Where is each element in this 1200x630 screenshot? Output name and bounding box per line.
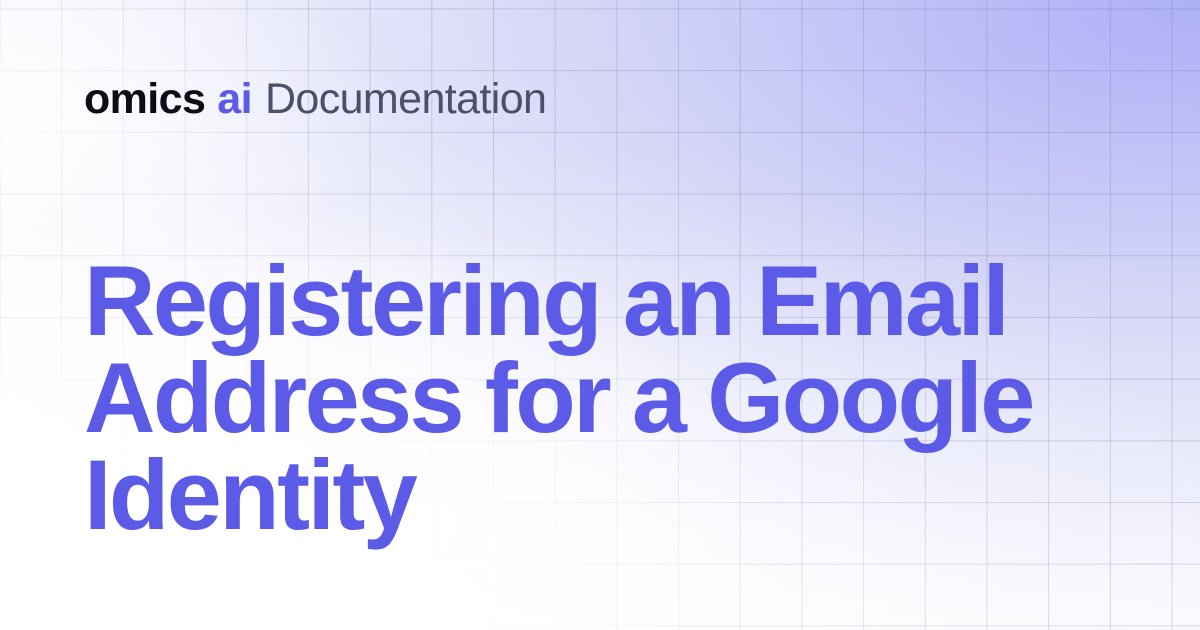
card-content: omics ai Documentation Registering an Em… bbox=[0, 0, 1200, 630]
brand-section-label: Documentation bbox=[265, 78, 546, 121]
page-title: Registering an Email Address for a Googl… bbox=[84, 252, 1059, 543]
brand-name-primary: omics bbox=[84, 78, 205, 121]
og-card: omics ai Documentation Registering an Em… bbox=[0, 0, 1200, 630]
brand-lockup: omics ai Documentation bbox=[84, 78, 546, 121]
brand-name-accent: ai bbox=[217, 78, 252, 121]
